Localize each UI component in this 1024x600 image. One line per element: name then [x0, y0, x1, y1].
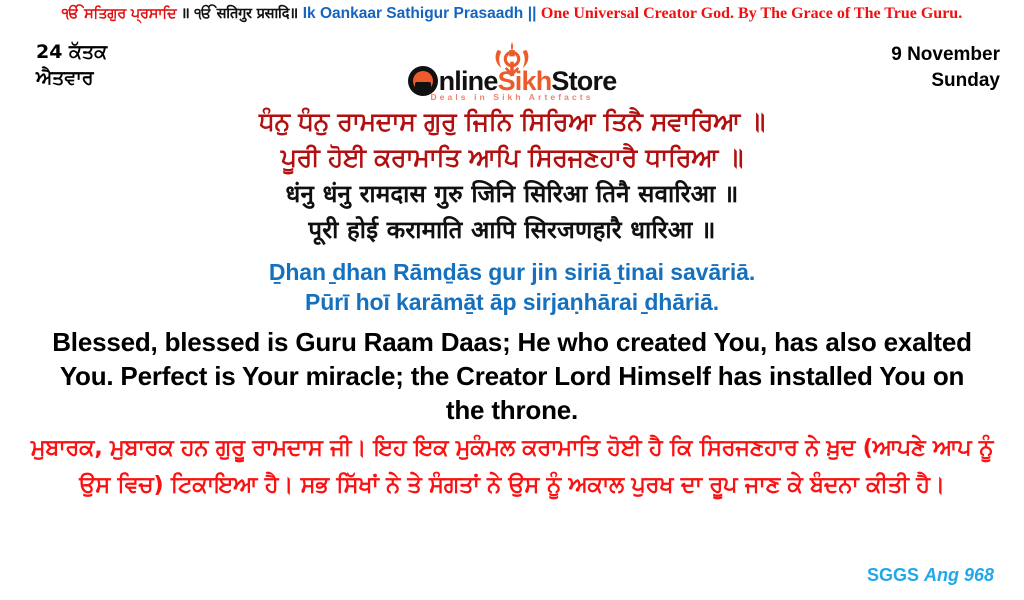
gregorian-date-block: 9 November Sunday	[891, 42, 1000, 93]
gurmukhi-verse: ਧੰਨੁ ਧੰਨੁ ਰਾਮਦਾਸ ਗੁਰੁ ਜਿਨਿ ਸਿਰਿਆ ਤਿਨੈ ਸਵ…	[0, 104, 1024, 175]
logo-text-nline: nline	[439, 68, 498, 95]
logo-text-sikh: Sikh	[498, 68, 552, 95]
gurmukhi-verse-line-2: ਪੂਰੀ ਹੋਈ ਕਰਾਮਾਤਿ ਆਪਿ ਸਿਰਜਣਹਾਰੈ ਧਾਰਿਆ ॥	[0, 140, 1024, 176]
punjabi-translation: ਮੁਬਾਰਕ, ਮੁਬਾਰਕ ਹਨ ਗੁਰੂ ਰਾਮਦਾਸ ਜੀ। ਇਹ ਇਕ …	[18, 430, 1006, 504]
onlinesikhstore-logo[interactable]: nline Sikh Store Deals in Sikh Artefacts	[362, 46, 662, 104]
mool-separator-pipes: ||	[528, 5, 537, 22]
devanagari-verse: धंनु धंनु रामदास गुरु जिनि सिरिआ तिनै सव…	[0, 176, 1024, 248]
gurmukhi-verse-line-1: ਧੰਨੁ ਧੰਨੁ ਰਾਮਦਾਸ ਗੁਰੁ ਜਿਨਿ ਸਿਰਿਆ ਤਿਨੈ ਸਵ…	[0, 104, 1024, 140]
ang-number: Ang 968	[924, 565, 994, 585]
transliteration-line-1: Ḏhan ̱dhan Rāmḏās gur jin siriā ̱tinai…	[0, 258, 1024, 288]
logo-tagline: Deals in Sikh Artefacts	[362, 92, 662, 102]
mool-mantar-gurmukhi: ੴ ਸਤਿਗੁਰ ਪ੍ਰਸਾਦਿ	[62, 6, 177, 22]
devanagari-verse-line-2: पूरी होई करामाति आपि सिरजणहारै धारिआ ॥	[0, 212, 1024, 248]
mool-mantar-transliteration: Ik Oankaar Sathigur Prasaadh	[303, 5, 524, 22]
transliteration-line-2: Pūrī hoī karāmā̱t āp sirjaṇhārai ̱dhāriā…	[0, 288, 1024, 318]
mool-mantar-devanagari: ੴ सतिगुर प्रसादि	[194, 6, 289, 22]
mool-mantar-header: ੴ ਸਤਿਗੁਰ ਪ੍ਰਸਾਦਿ ॥ ੴ सतिगुर प्रसादि॥ Ik …	[0, 6, 1024, 22]
gregorian-weekday: Sunday	[891, 68, 1000, 94]
roman-transliteration: Ḏhan ̱dhan Rāmḏās gur jin siriā ̱tinai…	[0, 258, 1024, 318]
english-translation: Blessed, blessed is Guru Raam Daas; He w…	[50, 326, 974, 427]
mool-separator-1: ॥	[181, 5, 190, 22]
mool-mantar-english: One Universal Creator God. By The Grace …	[541, 5, 962, 22]
devanagari-verse-line-1: धंनु धंनु रामदास गुरु जिनि सिरिआ तिनै सव…	[0, 176, 1024, 212]
nanakshahi-date: 24 ਕੱਤਕ ਐਤਵਾਰ	[36, 40, 107, 91]
nanakshahi-day-month: 24 ਕੱਤਕ	[36, 40, 107, 66]
scripture-source-reference: SGGS Ang 968	[867, 565, 994, 586]
source-abbreviation: SGGS	[867, 565, 919, 585]
gregorian-date: 9 November	[891, 42, 1000, 68]
mool-separator-2: ॥	[289, 5, 298, 22]
nanakshahi-weekday: ਐਤਵਾਰ	[36, 66, 107, 92]
logo-text-store: Store	[551, 68, 616, 95]
